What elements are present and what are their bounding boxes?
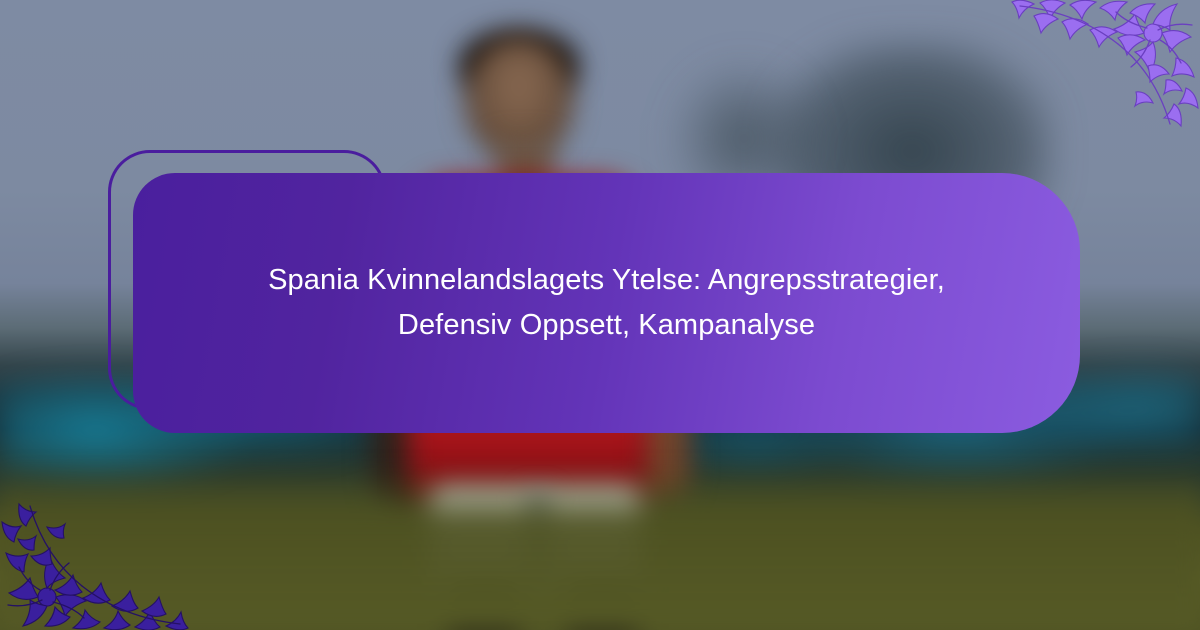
grass-field-blur — [0, 466, 1200, 630]
page-title: Spania Kvinnelandslagets Ytelse: Angreps… — [268, 258, 945, 348]
page-title-line-2: Defensiv Oppsett, Kampanalyse — [398, 309, 815, 341]
title-card: Spania Kvinnelandslagets Ytelse: Angreps… — [133, 173, 1080, 433]
banner-image: Spania Kvinnelandslagets Ytelse: Angreps… — [0, 0, 1200, 630]
page-title-line-1: Spania Kvinnelandslagets Ytelse: Angreps… — [268, 264, 945, 296]
